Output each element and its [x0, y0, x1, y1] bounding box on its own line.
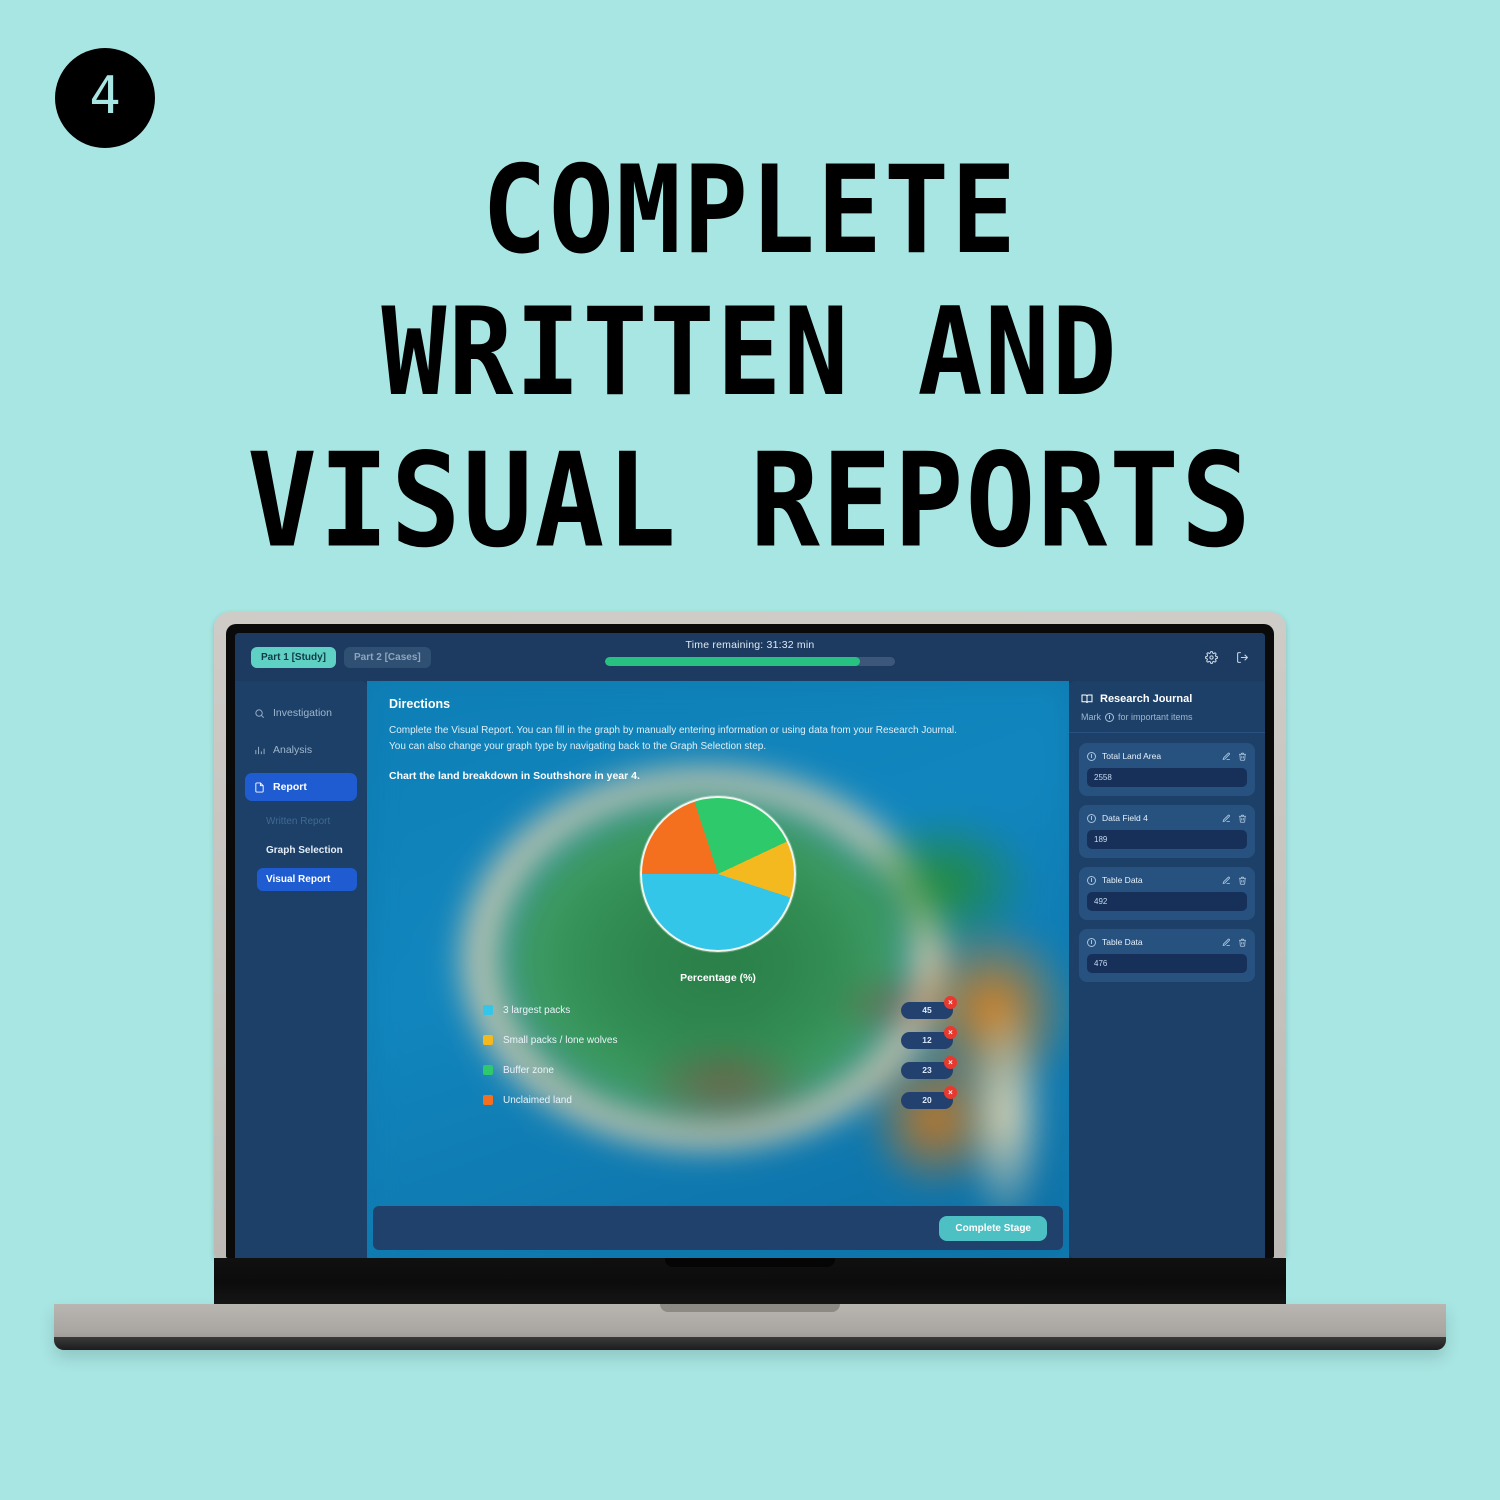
step-number-badge: 4	[55, 48, 155, 148]
legend-label: Small packs / lone wolves	[503, 1035, 618, 1046]
gear-icon[interactable]	[1205, 651, 1218, 664]
legend-label: Buffer zone	[503, 1065, 554, 1076]
app-topbar: Part 1 [Study] Part 2 [Cases] Time remai…	[235, 633, 1265, 681]
journal-subtitle-post: for important items	[1118, 712, 1193, 722]
sidebar-subitem-visual-report[interactable]: Visual Report	[257, 868, 357, 891]
tab-part-1[interactable]: Part 1 [Study]	[251, 647, 336, 668]
mark-important-icon[interactable]	[1087, 814, 1096, 823]
legend-row: Buffer zone23×	[483, 1060, 953, 1080]
journal-entry-value[interactable]: 476	[1087, 954, 1247, 973]
complete-stage-button[interactable]: Complete Stage	[939, 1216, 1047, 1241]
info-circle-icon	[1105, 713, 1114, 722]
journal-entry-label: Table Data	[1102, 937, 1216, 947]
search-icon	[254, 708, 265, 719]
legend-value-input[interactable]: 12×	[901, 1032, 953, 1049]
book-icon	[1081, 693, 1093, 705]
journal-entry-label: Table Data	[1102, 875, 1216, 885]
remove-series-button[interactable]: ×	[944, 996, 957, 1009]
legend-swatch	[483, 1095, 493, 1105]
journal-entry-card[interactable]: Data Field 4189	[1079, 805, 1255, 858]
legend-row: Small packs / lone wolves12×	[483, 1030, 953, 1050]
journal-entry-label: Total Land Area	[1102, 751, 1216, 761]
legend-value-input[interactable]: 23×	[901, 1062, 953, 1079]
headline-line-3: VISUAL REPORTS	[0, 425, 1500, 578]
journal-entry-value[interactable]: 492	[1087, 892, 1247, 911]
legend-value: 23	[922, 1065, 931, 1075]
journal-entry-value[interactable]: 2558	[1087, 768, 1247, 787]
journal-entry-value[interactable]: 189	[1087, 830, 1247, 849]
main-panel: Directions Complete the Visual Report. Y…	[367, 681, 1069, 1258]
laptop-screen: Part 1 [Study] Part 2 [Cases] Time remai…	[235, 633, 1265, 1258]
pencil-icon[interactable]	[1222, 814, 1231, 823]
footer-bar: Complete Stage	[373, 1206, 1063, 1250]
pencil-icon[interactable]	[1222, 752, 1231, 761]
legend-swatch	[483, 1005, 493, 1015]
page-title: COMPLETE WRITTEN AND VISUAL REPORTS	[0, 140, 1500, 579]
sidebar-item-label: Analysis	[273, 744, 312, 756]
document-icon	[254, 782, 265, 793]
timer-label: Time remaining: 31:32 min	[605, 639, 895, 651]
remove-series-button[interactable]: ×	[944, 1056, 957, 1069]
headline-line-1: COMPLETE	[0, 140, 1500, 283]
research-journal-panel: Research Journal Mark for important item…	[1069, 681, 1265, 1258]
journal-subtitle: Mark for important items	[1081, 712, 1253, 722]
timer-widget: Time remaining: 31:32 min	[605, 639, 895, 666]
pie-chart[interactable]	[640, 796, 796, 952]
sidebar-item-report[interactable]: Report	[245, 773, 357, 801]
chart-area: Percentage (%) 3 largest packs45×Small p…	[367, 782, 1069, 1206]
journal-title: Research Journal	[1100, 693, 1192, 705]
sidebar-item-investigation[interactable]: Investigation	[245, 699, 357, 727]
topbar-actions	[1205, 651, 1249, 664]
laptop-deck	[214, 1258, 1286, 1304]
chart-icon	[254, 745, 265, 756]
part-tab-group: Part 1 [Study] Part 2 [Cases]	[251, 647, 431, 668]
mark-important-icon[interactable]	[1087, 938, 1096, 947]
journal-entry-list: Total Land Area2558Data Field 4189Table …	[1069, 733, 1265, 992]
trash-icon[interactable]	[1238, 814, 1247, 823]
mark-important-icon[interactable]	[1087, 752, 1096, 761]
journal-entry-card[interactable]: Table Data492	[1079, 867, 1255, 920]
chart-legend: 3 largest packs45×Small packs / lone wol…	[483, 1000, 953, 1110]
logout-icon[interactable]	[1236, 651, 1249, 664]
sidebar-subitem-written-report[interactable]: Written Report	[257, 810, 357, 833]
journal-entry-card[interactable]: Total Land Area2558	[1079, 743, 1255, 796]
task-prompt: Chart the land breakdown in Southshore i…	[389, 770, 1047, 782]
legend-value: 12	[922, 1035, 931, 1045]
legend-value-input[interactable]: 45×	[901, 1002, 953, 1019]
legend-label: 3 largest packs	[503, 1005, 570, 1016]
legend-value: 20	[922, 1095, 931, 1105]
chart-title: Percentage (%)	[367, 972, 1069, 984]
trash-icon[interactable]	[1238, 752, 1247, 761]
laptop-lid: Part 1 [Study] Part 2 [Cases] Time remai…	[214, 612, 1286, 1258]
journal-title-row: Research Journal	[1081, 693, 1253, 705]
directions-body: Complete the Visual Report. You can fill…	[389, 723, 969, 754]
laptop-mockup: Part 1 [Study] Part 2 [Cases] Time remai…	[210, 612, 1290, 1350]
legend-row: Unclaimed land20×	[483, 1090, 953, 1110]
app-window: Part 1 [Study] Part 2 [Cases] Time remai…	[235, 633, 1265, 1258]
journal-subtitle-pre: Mark	[1081, 712, 1101, 722]
legend-swatch	[483, 1035, 493, 1045]
directions-title: Directions	[389, 697, 1047, 711]
sidebar-item-label: Report	[273, 781, 307, 793]
trash-icon[interactable]	[1238, 876, 1247, 885]
directions-section: Directions Complete the Visual Report. Y…	[367, 681, 1069, 782]
remove-series-button[interactable]: ×	[944, 1086, 957, 1099]
remove-series-button[interactable]: ×	[944, 1026, 957, 1039]
sidebar-subitem-graph-selection[interactable]: Graph Selection	[257, 839, 357, 862]
journal-header: Research Journal Mark for important item…	[1069, 681, 1265, 733]
legend-label: Unclaimed land	[503, 1095, 572, 1106]
timer-progress-bar	[605, 657, 895, 666]
legend-row: 3 largest packs45×	[483, 1000, 953, 1020]
journal-entry-label: Data Field 4	[1102, 813, 1216, 823]
pencil-icon[interactable]	[1222, 938, 1231, 947]
tab-part-2[interactable]: Part 2 [Cases]	[344, 647, 431, 668]
app-body: Investigation Analysis Report Written Re…	[235, 681, 1265, 1258]
trash-icon[interactable]	[1238, 938, 1247, 947]
mark-important-icon[interactable]	[1087, 876, 1096, 885]
legend-value-input[interactable]: 20×	[901, 1092, 953, 1109]
legend-swatch	[483, 1065, 493, 1075]
sidebar: Investigation Analysis Report Written Re…	[235, 681, 367, 1258]
journal-entry-card[interactable]: Table Data476	[1079, 929, 1255, 982]
timer-progress-fill	[605, 657, 860, 666]
headline-line-2: WRITTEN AND	[0, 283, 1500, 426]
legend-value: 45	[922, 1005, 931, 1015]
laptop-base	[54, 1304, 1446, 1350]
sidebar-item-label: Investigation	[273, 707, 332, 719]
sidebar-item-analysis[interactable]: Analysis	[245, 736, 357, 764]
pencil-icon[interactable]	[1222, 876, 1231, 885]
step-number: 4	[89, 70, 120, 122]
laptop-bezel: Part 1 [Study] Part 2 [Cases] Time remai…	[226, 624, 1274, 1258]
